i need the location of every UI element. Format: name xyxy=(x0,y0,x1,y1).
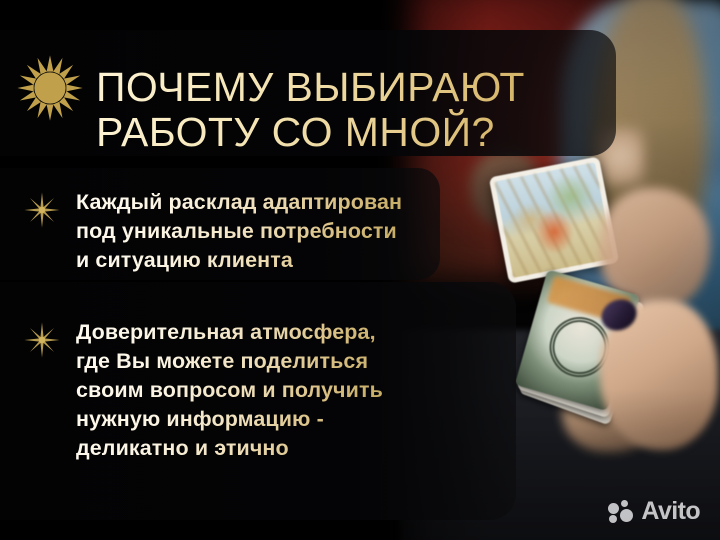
avito-dot xyxy=(620,509,633,522)
sparkle-star-icon xyxy=(22,320,62,360)
avito-watermark: Avito xyxy=(608,499,700,524)
list-item-text: Каждый расклад адаптирован под уникальны… xyxy=(76,188,402,275)
avito-wordmark: Avito xyxy=(641,499,700,524)
list-item: Каждый расклад адаптирован под уникальны… xyxy=(22,188,402,275)
poster: ПОЧЕМУ ВЫБИРАЮТ РАБОТУ СО МНОЙ? xyxy=(0,0,720,540)
sparkle-star-icon xyxy=(22,190,62,230)
sun-icon xyxy=(16,54,84,122)
avito-dot xyxy=(609,515,617,523)
avito-dot xyxy=(608,503,619,514)
title-line-2: РАБОТУ СО МНОЙ? xyxy=(96,110,656,155)
list-item-line: деликатно и этично xyxy=(76,434,383,463)
list-item-text: Доверительная атмосфера, где Вы можете п… xyxy=(76,318,383,463)
list-item-line: под уникальные потребности xyxy=(76,217,402,246)
list-item: Доверительная атмосфера, где Вы можете п… xyxy=(22,318,383,463)
avito-dot xyxy=(621,500,628,507)
list-item-line: нужную информацию - xyxy=(76,405,383,434)
list-item-line: Доверительная атмосфера, xyxy=(76,318,383,347)
poster-content: ПОЧЕМУ ВЫБИРАЮТ РАБОТУ СО МНОЙ? xyxy=(0,0,720,540)
avito-dots-icon xyxy=(608,500,634,524)
page-title: ПОЧЕМУ ВЫБИРАЮТ РАБОТУ СО МНОЙ? xyxy=(96,65,656,155)
title-line-1: ПОЧЕМУ ВЫБИРАЮТ xyxy=(96,64,525,110)
list-item-line: и ситуацию клиента xyxy=(76,246,402,275)
list-item-line: своим вопросом и получить xyxy=(76,376,383,405)
list-item-line: где Вы можете поделиться xyxy=(76,347,383,376)
list-item-line: Каждый расклад адаптирован xyxy=(76,188,402,217)
